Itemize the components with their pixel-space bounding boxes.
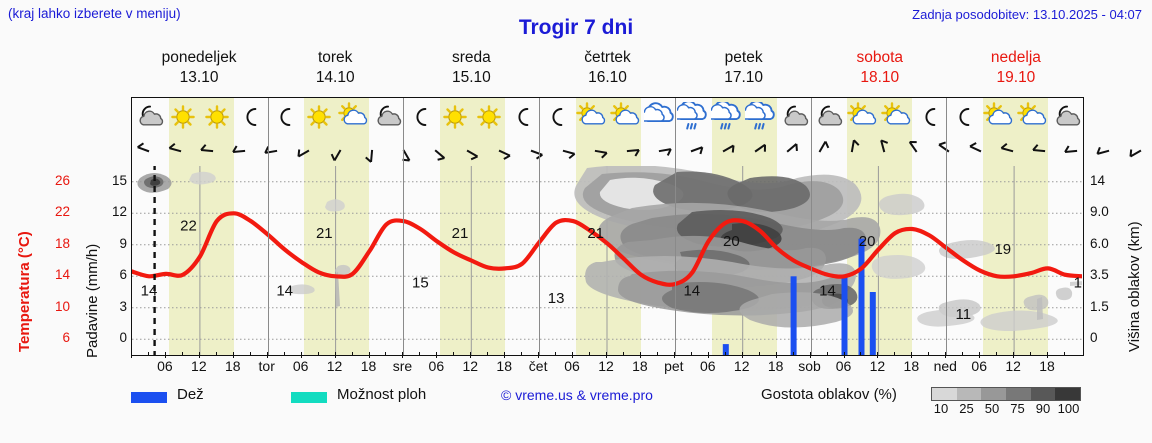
- wind-barb: [1092, 136, 1124, 166]
- showers-legend-swatch: [291, 392, 327, 403]
- temp-tick-4: 10: [40, 299, 70, 314]
- day-date: 14.10: [267, 68, 403, 88]
- temp-tick-0: 26: [40, 173, 70, 188]
- svg-text:21: 21: [316, 225, 333, 242]
- day-header-1: torek14.10: [267, 48, 403, 93]
- wind-barb: [900, 136, 932, 166]
- density-swatch-4: [1031, 388, 1056, 400]
- rain-legend-swatch: [131, 392, 167, 403]
- x-label: 12: [598, 358, 614, 374]
- density-swatch-1: [957, 388, 982, 400]
- sun-icon: [166, 98, 200, 136]
- x-label-day: čet: [529, 358, 548, 374]
- wind-barb: [996, 136, 1028, 166]
- wind-barb: [804, 136, 836, 166]
- wind-barb: [260, 136, 292, 166]
- wind-barb: [1028, 136, 1060, 166]
- day-date: 15.10: [403, 68, 539, 88]
- moon-icon: [268, 98, 302, 136]
- svg-text:14: 14: [276, 282, 293, 299]
- wind-barb: [292, 136, 324, 166]
- temp-tick-3: 14: [40, 267, 70, 282]
- temperature-axis-title: Temperatura (°C): [16, 231, 33, 352]
- prec-tick-3: 6: [103, 267, 127, 282]
- sun-cloud-icon: [1015, 98, 1049, 136]
- x-label: 18: [361, 358, 377, 374]
- wind-barb: [196, 136, 228, 166]
- density-tick-2: 50: [985, 401, 999, 416]
- x-label-day: sre: [393, 358, 412, 374]
- day-name: ponedeljek: [162, 49, 237, 66]
- moon-cloud-icon: [370, 98, 404, 136]
- chart-svg: 142214211521132114201420111915: [132, 166, 1082, 355]
- svg-text:20: 20: [859, 233, 876, 250]
- wind-barb: [868, 136, 900, 166]
- sun-cloud-icon: [574, 98, 608, 136]
- x-label: 06: [157, 358, 173, 374]
- x-label: 18: [904, 358, 920, 374]
- day-separator-4: [675, 98, 676, 355]
- wind-barb: [228, 136, 260, 166]
- day-header-3: četrtek16.10: [539, 48, 675, 93]
- moon-icon: [506, 98, 540, 136]
- moon-cloud-icon: [1049, 98, 1083, 136]
- day-name: sobota: [857, 49, 904, 66]
- density-swatch-2: [981, 388, 1006, 400]
- day-header-6: nedelja19.10: [948, 48, 1084, 93]
- x-label: 12: [462, 358, 478, 374]
- x-label: 06: [429, 358, 445, 374]
- cloud-rain-icon: [676, 98, 710, 136]
- cloud-tick-5: 0: [1090, 330, 1130, 345]
- density-tick-0: 10: [934, 401, 948, 416]
- density-tick-4: 90: [1036, 401, 1050, 416]
- day-date: 13.10: [131, 68, 267, 88]
- day-date: 16.10: [539, 68, 675, 88]
- copyright-link[interactable]: © vreme.us & vreme.pro: [501, 387, 653, 403]
- wind-barb: [964, 136, 996, 166]
- sun-icon: [200, 98, 234, 136]
- svg-text:14: 14: [819, 282, 836, 299]
- density-tick-3: 75: [1010, 401, 1024, 416]
- wind-barb: [676, 136, 708, 166]
- cloud-tick-1: 9.0: [1090, 204, 1130, 219]
- density-swatch-5: [1055, 388, 1080, 400]
- showers-legend-label: Možnost ploh: [337, 386, 426, 403]
- wind-barb: [516, 136, 548, 166]
- wind-barb: [740, 136, 772, 166]
- day-name: nedelja: [991, 49, 1041, 66]
- cloud-tick-0: 14: [1090, 173, 1130, 188]
- cloud-tick-4: 1.5: [1090, 299, 1130, 314]
- x-label: 06: [564, 358, 580, 374]
- moon-cloud-icon: [777, 98, 811, 136]
- wind-barb: [420, 136, 452, 166]
- x-label: 06: [836, 358, 852, 374]
- wind-barb: [612, 136, 644, 166]
- day-separator-2: [403, 98, 404, 355]
- day-separator-6: [946, 98, 947, 355]
- rain-legend-label: Dež: [177, 386, 204, 403]
- prec-tick-5: 0: [103, 330, 127, 345]
- x-label: 18: [496, 358, 512, 374]
- density-tick-1: 25: [959, 401, 973, 416]
- precipitation-axis-ticks: 15129630: [103, 160, 127, 360]
- cloud-tick-2: 6.0: [1090, 236, 1130, 251]
- forecast-plot: 142214211521132114201420111915: [131, 97, 1084, 356]
- x-label-day: sob: [798, 358, 821, 374]
- x-label: 06: [293, 358, 309, 374]
- wind-barb: [324, 136, 356, 166]
- svg-text:13: 13: [548, 290, 565, 307]
- wind-barb: [164, 136, 196, 166]
- sun-cloud-icon: [879, 98, 913, 136]
- day-date: 18.10: [812, 68, 948, 88]
- temp-tick-1: 22: [40, 204, 70, 219]
- cloud-height-axis-ticks: 149.06.03.51.50: [1090, 160, 1130, 360]
- x-axis-labels: 061218tor061218sre061218čet061218pet0612…: [131, 358, 1084, 378]
- svg-text:19: 19: [994, 241, 1011, 258]
- day-separator-5: [811, 98, 812, 355]
- x-label: 12: [1005, 358, 1021, 374]
- svg-text:21: 21: [587, 225, 604, 242]
- day-separator-3: [539, 98, 540, 355]
- day-date: 17.10: [676, 68, 812, 88]
- prec-tick-4: 3: [103, 299, 127, 314]
- svg-text:14: 14: [683, 282, 700, 299]
- prec-tick-1: 12: [103, 204, 127, 219]
- temp-tick-5: 6: [40, 330, 70, 345]
- sun-icon: [302, 98, 336, 136]
- wind-barb-row: [132, 136, 1083, 166]
- x-label: 12: [870, 358, 886, 374]
- sun-icon: [438, 98, 472, 136]
- day-name: četrtek: [584, 49, 631, 66]
- x-tick-marks: [131, 352, 1081, 358]
- cloud-rain-icon: [709, 98, 743, 136]
- day-separator-1: [268, 98, 269, 355]
- x-label: 18: [1039, 358, 1055, 374]
- svg-text:15: 15: [412, 274, 429, 291]
- wind-barb: [580, 136, 612, 166]
- wind-barb: [356, 136, 388, 166]
- sun-cloud-icon: [608, 98, 642, 136]
- x-label: 12: [191, 358, 207, 374]
- moon-icon: [234, 98, 268, 136]
- wind-barb: [708, 136, 740, 166]
- x-label-day: tor: [259, 358, 275, 374]
- moon-icon: [947, 98, 981, 136]
- wind-barb: [1060, 136, 1092, 166]
- sun-cloud-icon: [336, 98, 370, 136]
- wind-barb: [132, 136, 164, 166]
- chart-legend: Dež Možnost ploh © vreme.us & vreme.pro …: [131, 386, 1141, 416]
- day-date: 19.10: [948, 68, 1084, 88]
- density-tick-5: 100: [1058, 401, 1080, 416]
- wind-barb: [836, 136, 868, 166]
- x-label: 06: [700, 358, 716, 374]
- x-label: 06: [971, 358, 987, 374]
- day-header-5: sobota18.10: [812, 48, 948, 93]
- x-label: 12: [734, 358, 750, 374]
- svg-text:11: 11: [956, 306, 972, 323]
- svg-text:14: 14: [141, 282, 158, 299]
- day-name: torek: [318, 49, 352, 66]
- x-label: 18: [632, 358, 648, 374]
- last-updated: Zadnja posodobitev: 13.10.2025 - 04:07: [912, 7, 1142, 22]
- day-header-0: ponedeljek13.10: [131, 48, 267, 93]
- moon-cloud-icon: [132, 98, 166, 136]
- sky-icon-row: [132, 98, 1083, 136]
- sun-cloud-icon: [845, 98, 879, 136]
- wind-barb: [932, 136, 964, 166]
- svg-text:20: 20: [723, 233, 740, 250]
- svg-text:21: 21: [452, 225, 469, 242]
- moon-icon: [540, 98, 574, 136]
- prec-tick-2: 9: [103, 236, 127, 251]
- density-swatch-3: [1006, 388, 1031, 400]
- moon-cloud-icon: [811, 98, 845, 136]
- sun-cloud-icon: [981, 98, 1015, 136]
- sun-icon: [472, 98, 506, 136]
- prec-tick-0: 15: [103, 173, 127, 188]
- precipitation-axis-title: Padavine (mm/h): [84, 244, 101, 358]
- day-name: petek: [725, 49, 763, 66]
- chart-plot-area: 142214211521132114201420111915: [132, 166, 1083, 355]
- temperature-axis-ticks: 26221814106: [40, 160, 70, 360]
- temp-tick-2: 18: [40, 236, 70, 251]
- wind-barb: [452, 136, 484, 166]
- x-label: 12: [327, 358, 343, 374]
- day-header-row: ponedeljek13.10torek14.10sreda15.10četrt…: [131, 48, 1084, 93]
- wind-barb: [772, 136, 804, 166]
- cloud-density-scale: 1025507590100: [931, 387, 1083, 417]
- moon-icon: [913, 98, 947, 136]
- wind-barb: [484, 136, 516, 166]
- day-name: sreda: [452, 49, 491, 66]
- x-label: 18: [225, 358, 241, 374]
- wind-barb: [548, 136, 580, 166]
- cloud-density-legend-title: Gostota oblakov (%): [761, 386, 897, 403]
- day-header-4: petek17.10: [676, 48, 812, 93]
- moon-icon: [404, 98, 438, 136]
- cloud-icon: [642, 98, 676, 136]
- x-label-day: ned: [934, 358, 957, 374]
- density-swatch-0: [932, 388, 957, 400]
- svg-text:22: 22: [180, 217, 197, 234]
- cloud-rain-icon: [743, 98, 777, 136]
- svg-text:15: 15: [1074, 274, 1082, 291]
- day-header-2: sreda15.10: [403, 48, 539, 93]
- wind-barb: [644, 136, 676, 166]
- cloud-tick-3: 3.5: [1090, 267, 1130, 282]
- wind-barb: [1124, 136, 1152, 166]
- x-label: 18: [768, 358, 784, 374]
- x-label-day: pet: [664, 358, 683, 374]
